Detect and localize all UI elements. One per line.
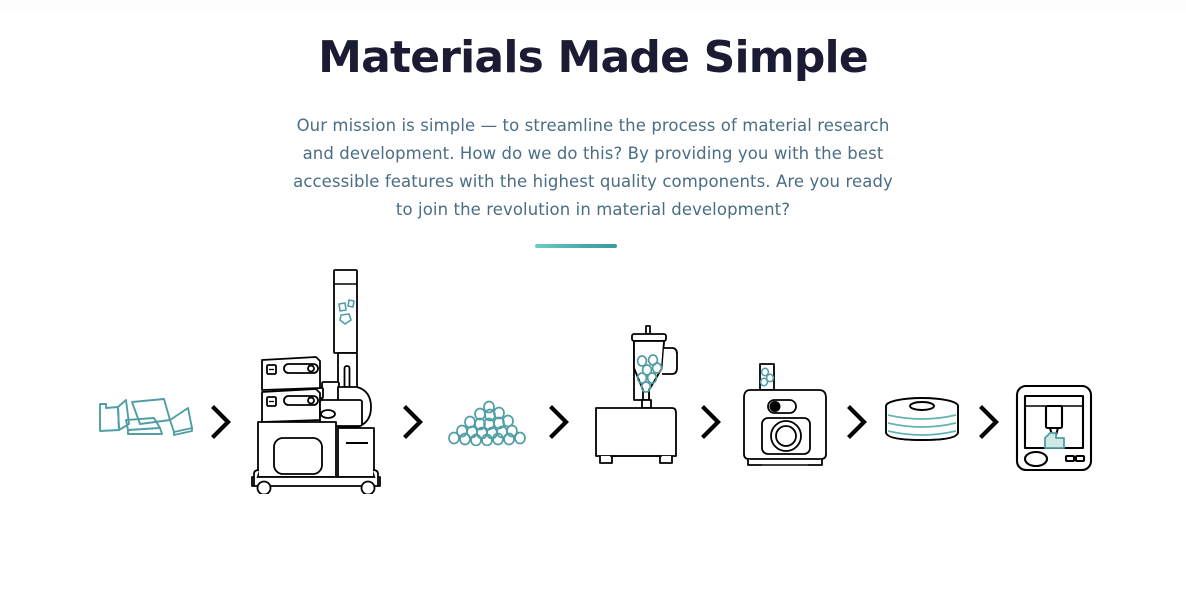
flow-step-pellet-pile[interactable]: Compounded pellets: [444, 400, 536, 446]
grinder-blender-icon: [582, 324, 688, 470]
flow-step-3d-printer[interactable]: 3D printer: [1012, 382, 1096, 474]
materials-made-simple-section: Materials Made Simple Our mission is sim…: [0, 0, 1186, 610]
pellet-pile-icon: [444, 400, 536, 446]
materials-process-flow: Raw material sheets: [0, 262, 1186, 502]
flow-step-grinder-blender[interactable]: Grinder / blender: [582, 324, 688, 470]
flow-step-filament-extruder[interactable]: Filament extruder: [736, 360, 836, 470]
flow-step-twin-screw-extruder[interactable]: Twin-screw extruder: [246, 262, 386, 494]
3d-printer-icon: [1012, 382, 1096, 474]
page-title: Materials Made Simple: [0, 32, 1186, 84]
mission-paragraph: Our mission is simple — to streamline th…: [293, 112, 893, 224]
flow-arrow-2: [400, 404, 426, 440]
flow-arrow-1: [208, 404, 234, 440]
flow-arrow-3: [546, 404, 572, 440]
filament-extruder-icon: [736, 360, 836, 470]
top-edge-strip: [0, 0, 1186, 10]
flow-step-filament-spool[interactable]: Filament spool: [878, 394, 966, 452]
raw-material-sheets-icon: [88, 390, 198, 450]
twin-screw-extruder-icon: [246, 262, 386, 494]
flow-arrow-4: [698, 404, 724, 440]
section-divider: [535, 244, 617, 248]
flow-arrow-5: [844, 404, 870, 440]
flow-step-raw-material-sheets[interactable]: Raw material sheets: [88, 390, 198, 450]
flow-arrow-6: [976, 404, 1002, 440]
filament-spool-icon: [878, 394, 966, 452]
